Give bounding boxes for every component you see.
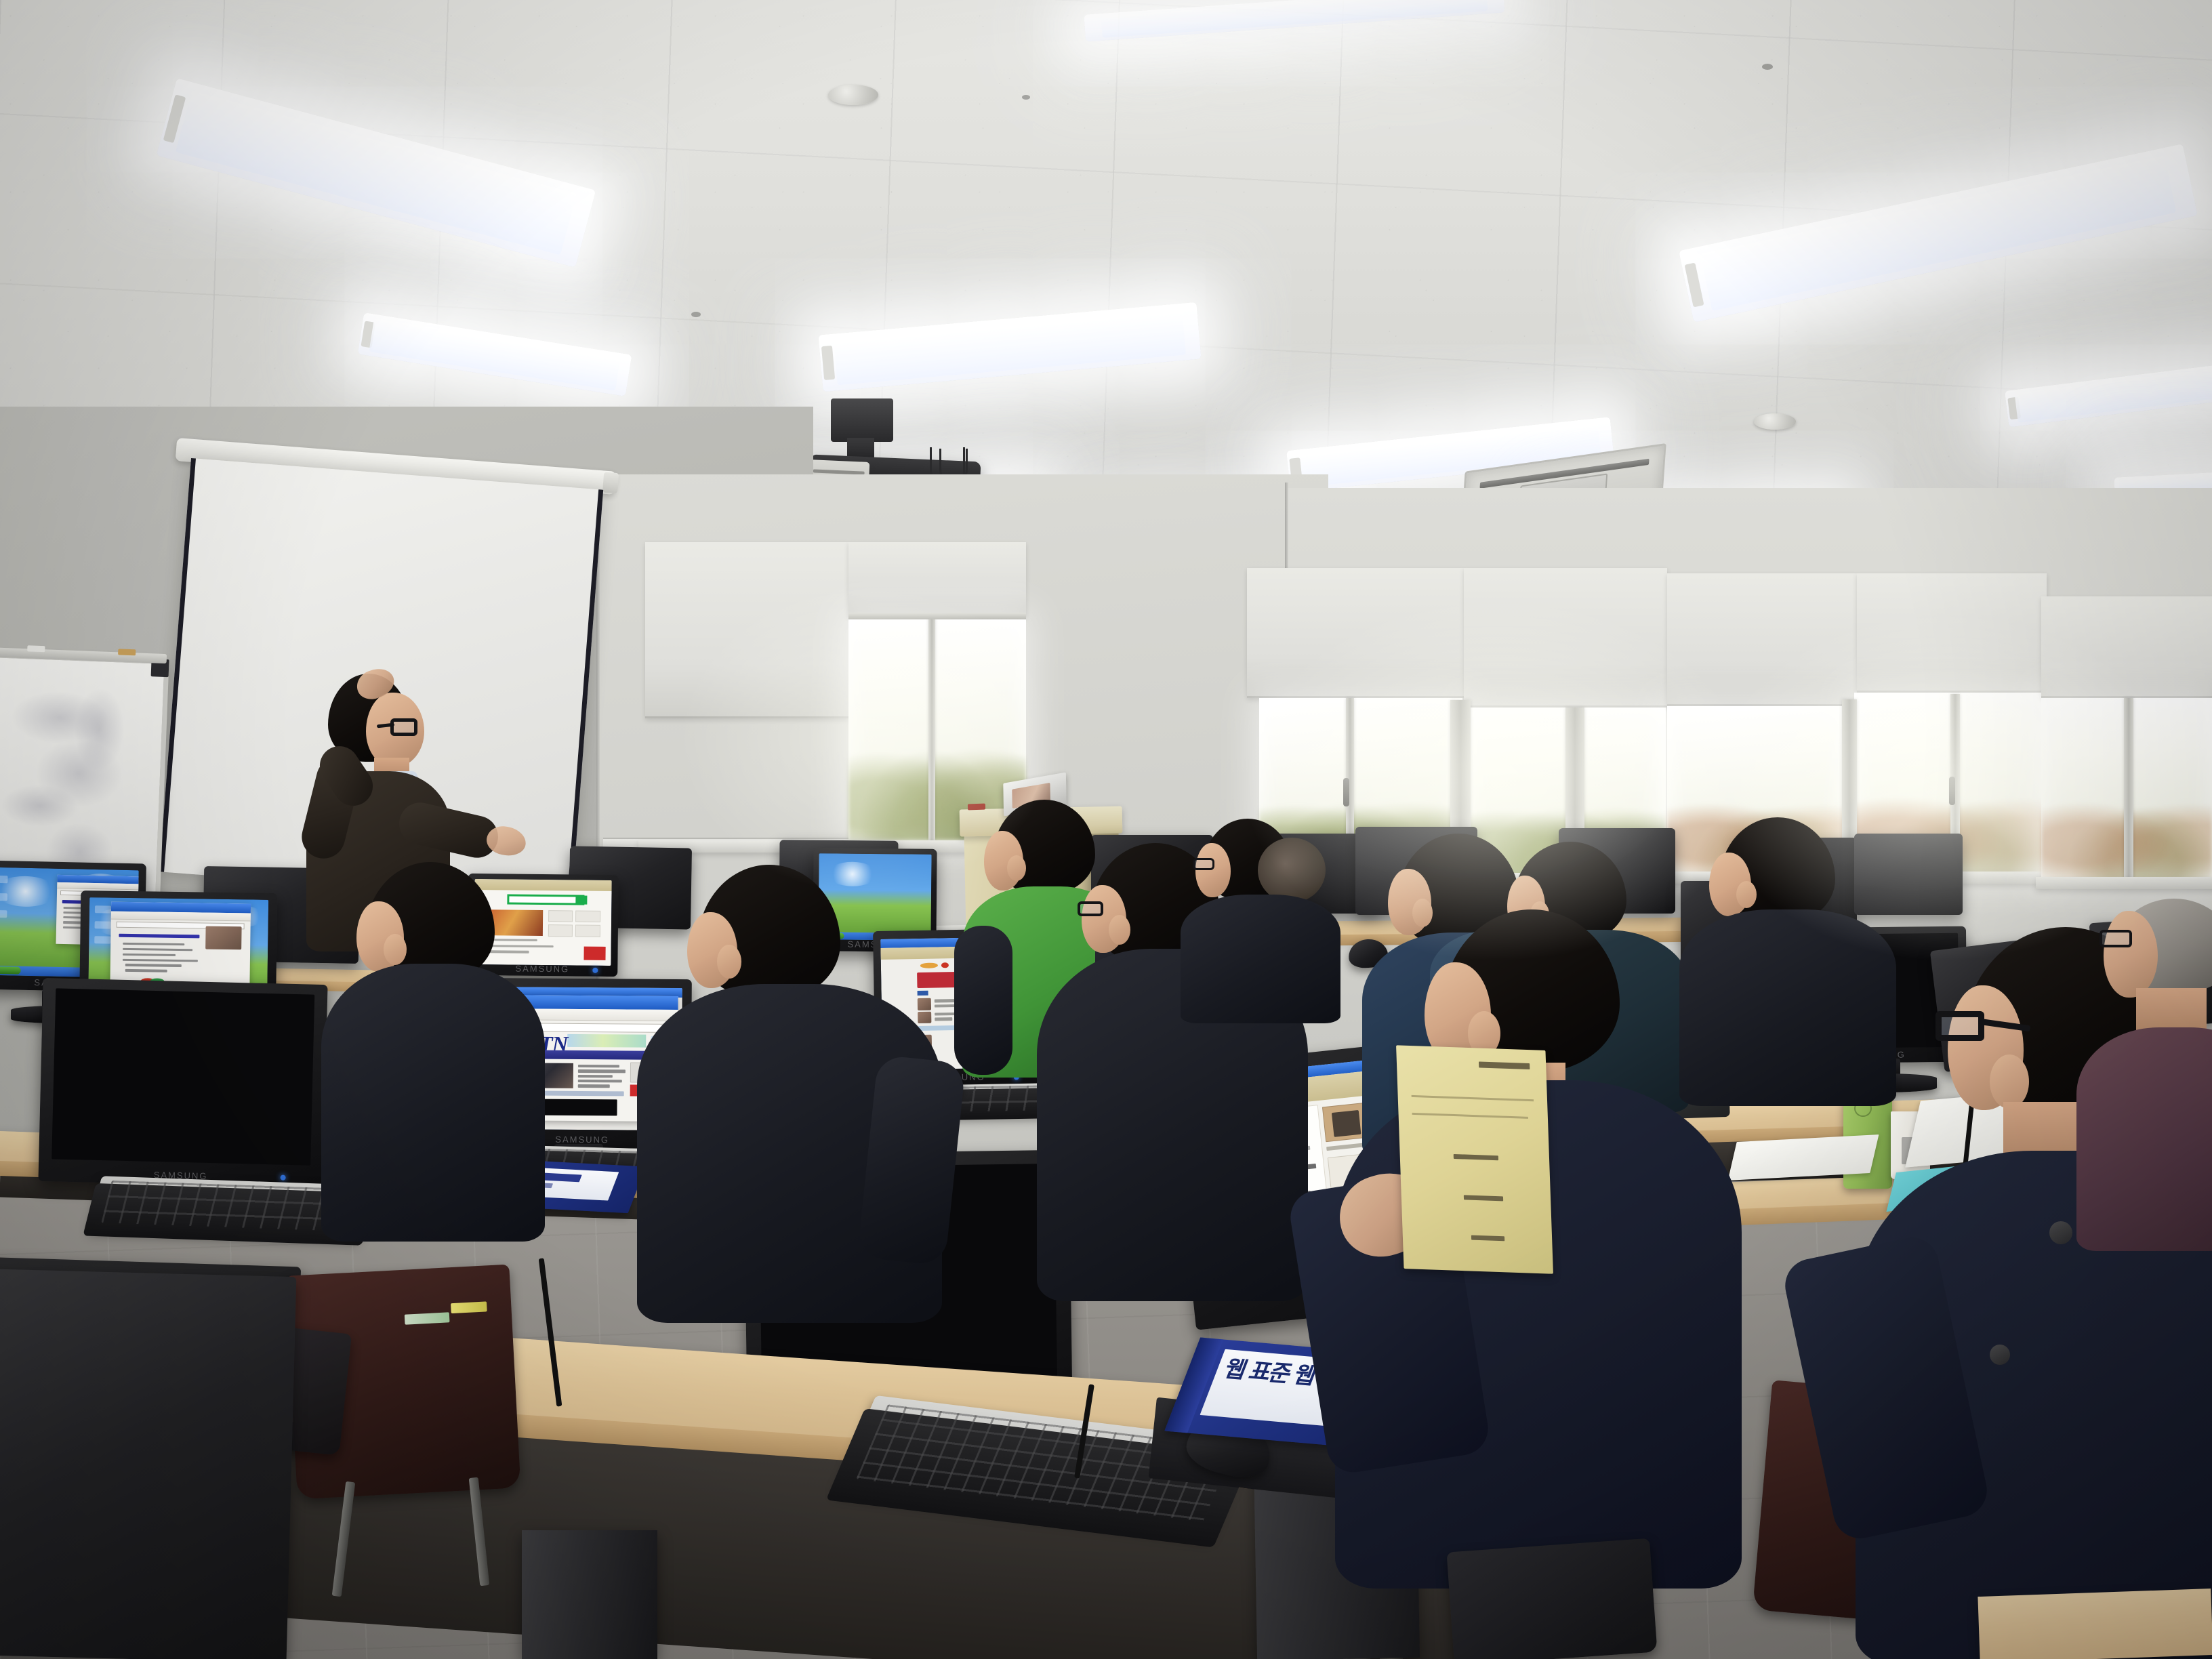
student-jacket xyxy=(1679,909,1896,1106)
student-face xyxy=(2104,911,2158,998)
student-sleeve xyxy=(954,926,1012,1075)
coat-button-icon xyxy=(2049,1221,2072,1244)
person-student-mid-left xyxy=(664,865,949,1326)
ear-icon xyxy=(717,945,741,979)
fur-trim-icon xyxy=(1258,838,1326,903)
monitor-bottom-left-rear xyxy=(0,1269,296,1659)
ear-icon xyxy=(1736,881,1757,908)
person-student-grey-hair xyxy=(2083,899,2212,1251)
window-blind[interactable] xyxy=(1857,573,2047,693)
classroom-photo: SAMSUNG xyxy=(0,0,2212,1659)
window-latch[interactable] xyxy=(1343,778,1349,806)
monitor-foreground-left: SAMSUNG xyxy=(38,978,327,1188)
person-student-front-left xyxy=(339,862,556,1242)
window-mullion xyxy=(2124,698,2133,880)
person-student-right-rear xyxy=(1679,817,1883,1102)
ear-icon xyxy=(384,934,407,965)
pc-tower xyxy=(522,1530,657,1659)
window-sill xyxy=(2036,877,2212,889)
window-blind[interactable] xyxy=(2041,596,2212,698)
glasses-icon xyxy=(390,718,417,736)
ceiling-fitting-icon xyxy=(1762,64,1773,70)
window-frame xyxy=(848,613,1026,619)
window-blind[interactable] xyxy=(1464,568,1667,708)
window-mullion xyxy=(928,617,935,840)
window-blind[interactable] xyxy=(1667,573,1857,706)
desk-right-foreground xyxy=(1978,1589,2212,1659)
chair-sticker xyxy=(451,1301,487,1313)
student-face xyxy=(1195,843,1231,897)
handout-papers[interactable] xyxy=(1728,1134,1879,1181)
coat-button-icon xyxy=(1990,1345,2010,1365)
projector-mount xyxy=(831,398,893,442)
ceiling-speaker-icon xyxy=(828,85,878,105)
window-latch[interactable] xyxy=(1949,777,1955,805)
person-student-fur-hood xyxy=(1187,819,1336,1022)
ceiling-fitting-icon xyxy=(1022,95,1030,100)
smoke-detector-icon xyxy=(1754,413,1796,430)
browser-window[interactable] xyxy=(110,901,251,992)
window-group-right-c xyxy=(2041,596,2212,922)
chair-sticker xyxy=(404,1312,449,1324)
ceiling-fitting-icon xyxy=(691,312,701,317)
window-blind[interactable] xyxy=(645,542,848,718)
monitor-screen[interactable] xyxy=(52,988,314,1165)
ear-icon xyxy=(1990,1054,2029,1109)
window-blind[interactable] xyxy=(848,542,1026,617)
student-puffer-jacket xyxy=(2076,1027,2212,1251)
ear-icon xyxy=(1007,855,1026,881)
window-blind[interactable] xyxy=(1247,568,1464,698)
shoulder-bag[interactable] xyxy=(1447,1538,1658,1659)
glasses-icon xyxy=(2100,930,2132,947)
glasses-icon xyxy=(1193,858,1214,870)
glasses-icon xyxy=(1935,1011,1984,1041)
student-jacket xyxy=(321,964,545,1242)
ear-icon xyxy=(1109,915,1130,945)
yellow-document-envelope[interactable] xyxy=(1396,1045,1553,1273)
glasses-icon xyxy=(1078,901,1103,916)
student-coat xyxy=(1181,895,1340,1023)
